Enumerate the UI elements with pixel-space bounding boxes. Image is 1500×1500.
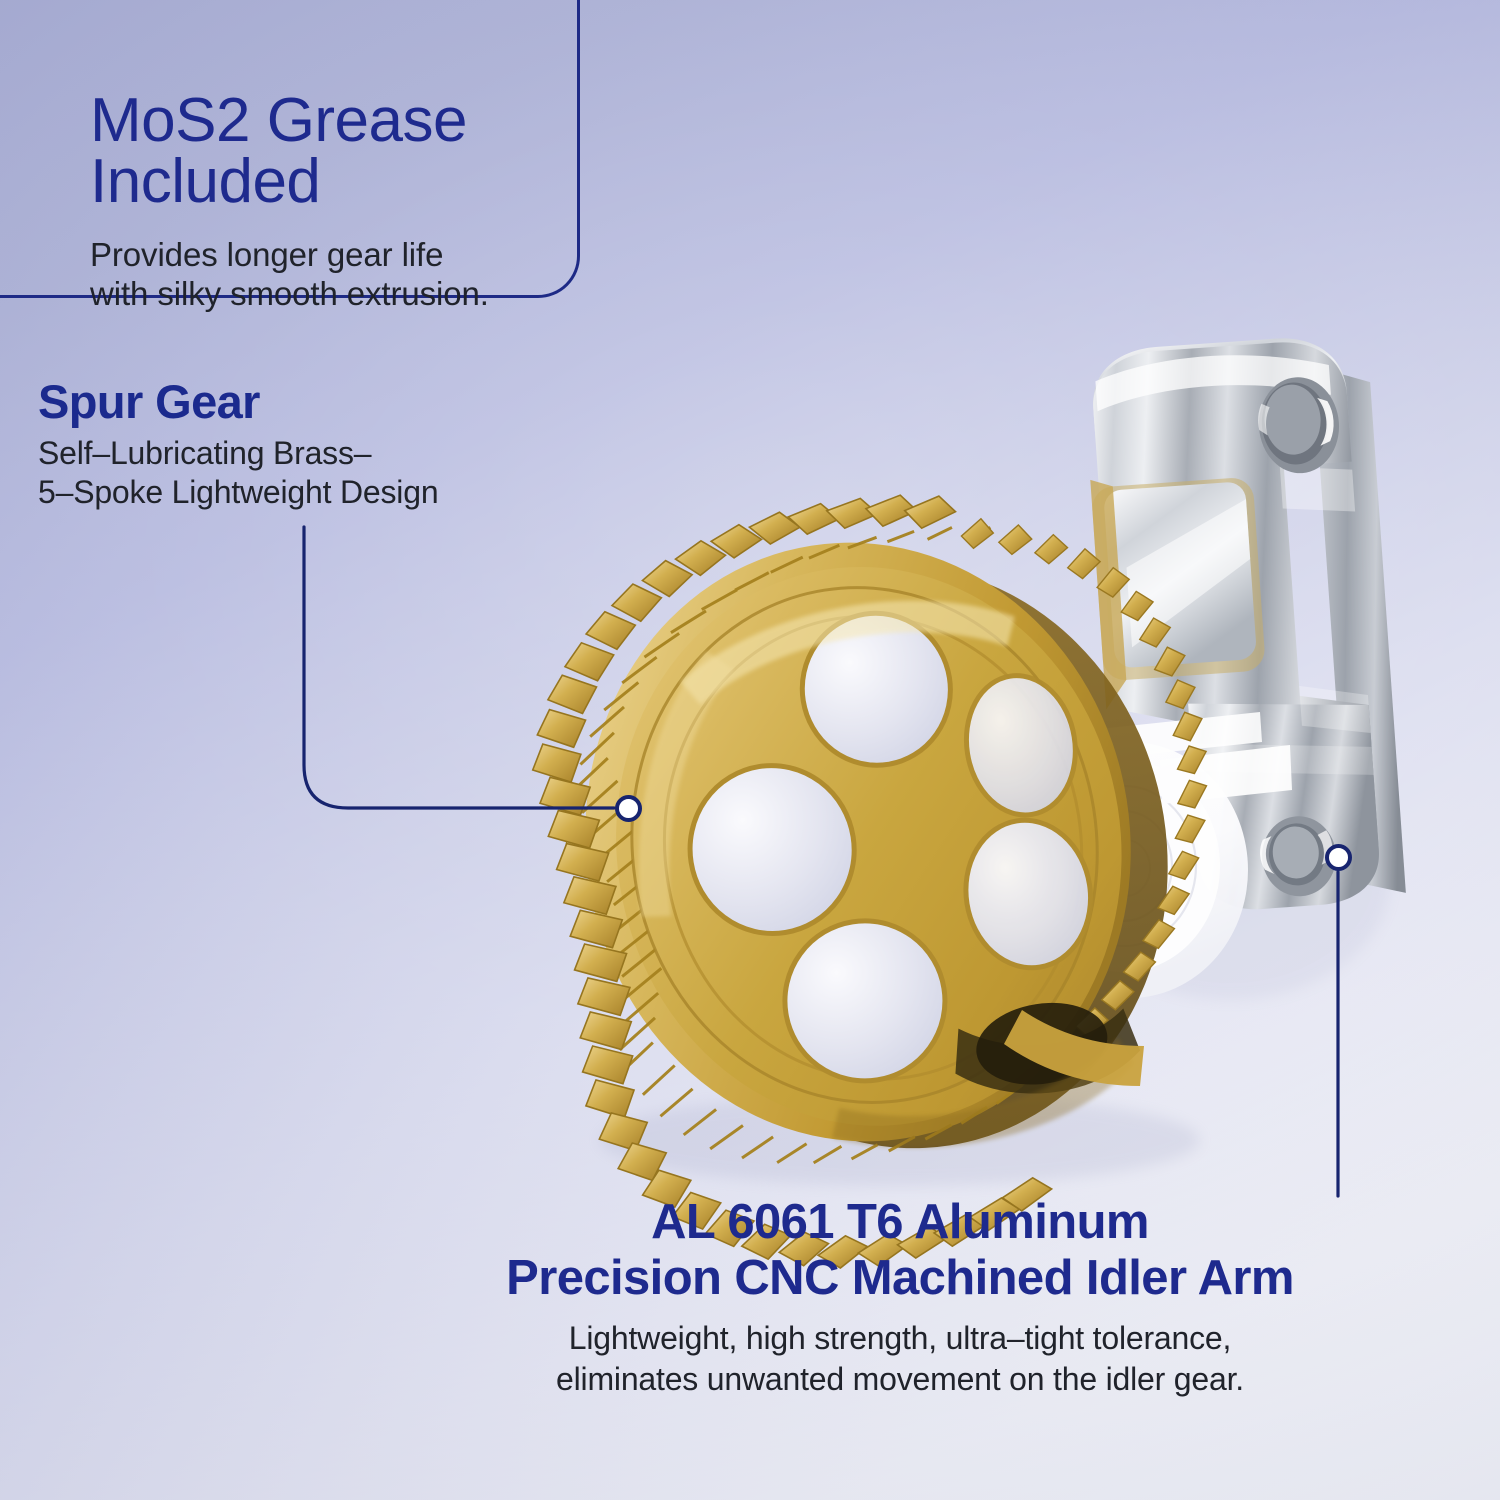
product-infographic: MoS2 Grease Included Provides longer gea…	[0, 0, 1500, 1500]
spur-gear-marker	[615, 795, 642, 822]
spur-gear-title: Spur Gear	[38, 378, 658, 425]
idler-arm-marker	[1325, 844, 1352, 871]
spur-gear-subtitle: Self–Lubricating Brass– 5–Spoke Lightwei…	[38, 434, 658, 512]
idler-arm-title-line2: Precision CNC Machined Idler Arm	[330, 1254, 1470, 1304]
mos2-grease-subtitle: Provides longer gear life with silky smo…	[90, 235, 610, 314]
spur-gear-callout: Spur Gear Self–Lubricating Brass– 5–Spok…	[38, 378, 658, 512]
idler-arm-callout: AL 6061 T6 Aluminum Precision CNC Machin…	[330, 1198, 1470, 1400]
idler-arm-subtitle: Lightweight, high strength, ultra–tight …	[330, 1318, 1470, 1400]
idler-arm-title-line1: AL 6061 T6 Aluminum	[330, 1198, 1470, 1248]
mos2-grease-callout: MoS2 Grease Included Provides longer gea…	[90, 90, 610, 314]
mos2-grease-title: MoS2 Grease Included	[90, 90, 610, 213]
